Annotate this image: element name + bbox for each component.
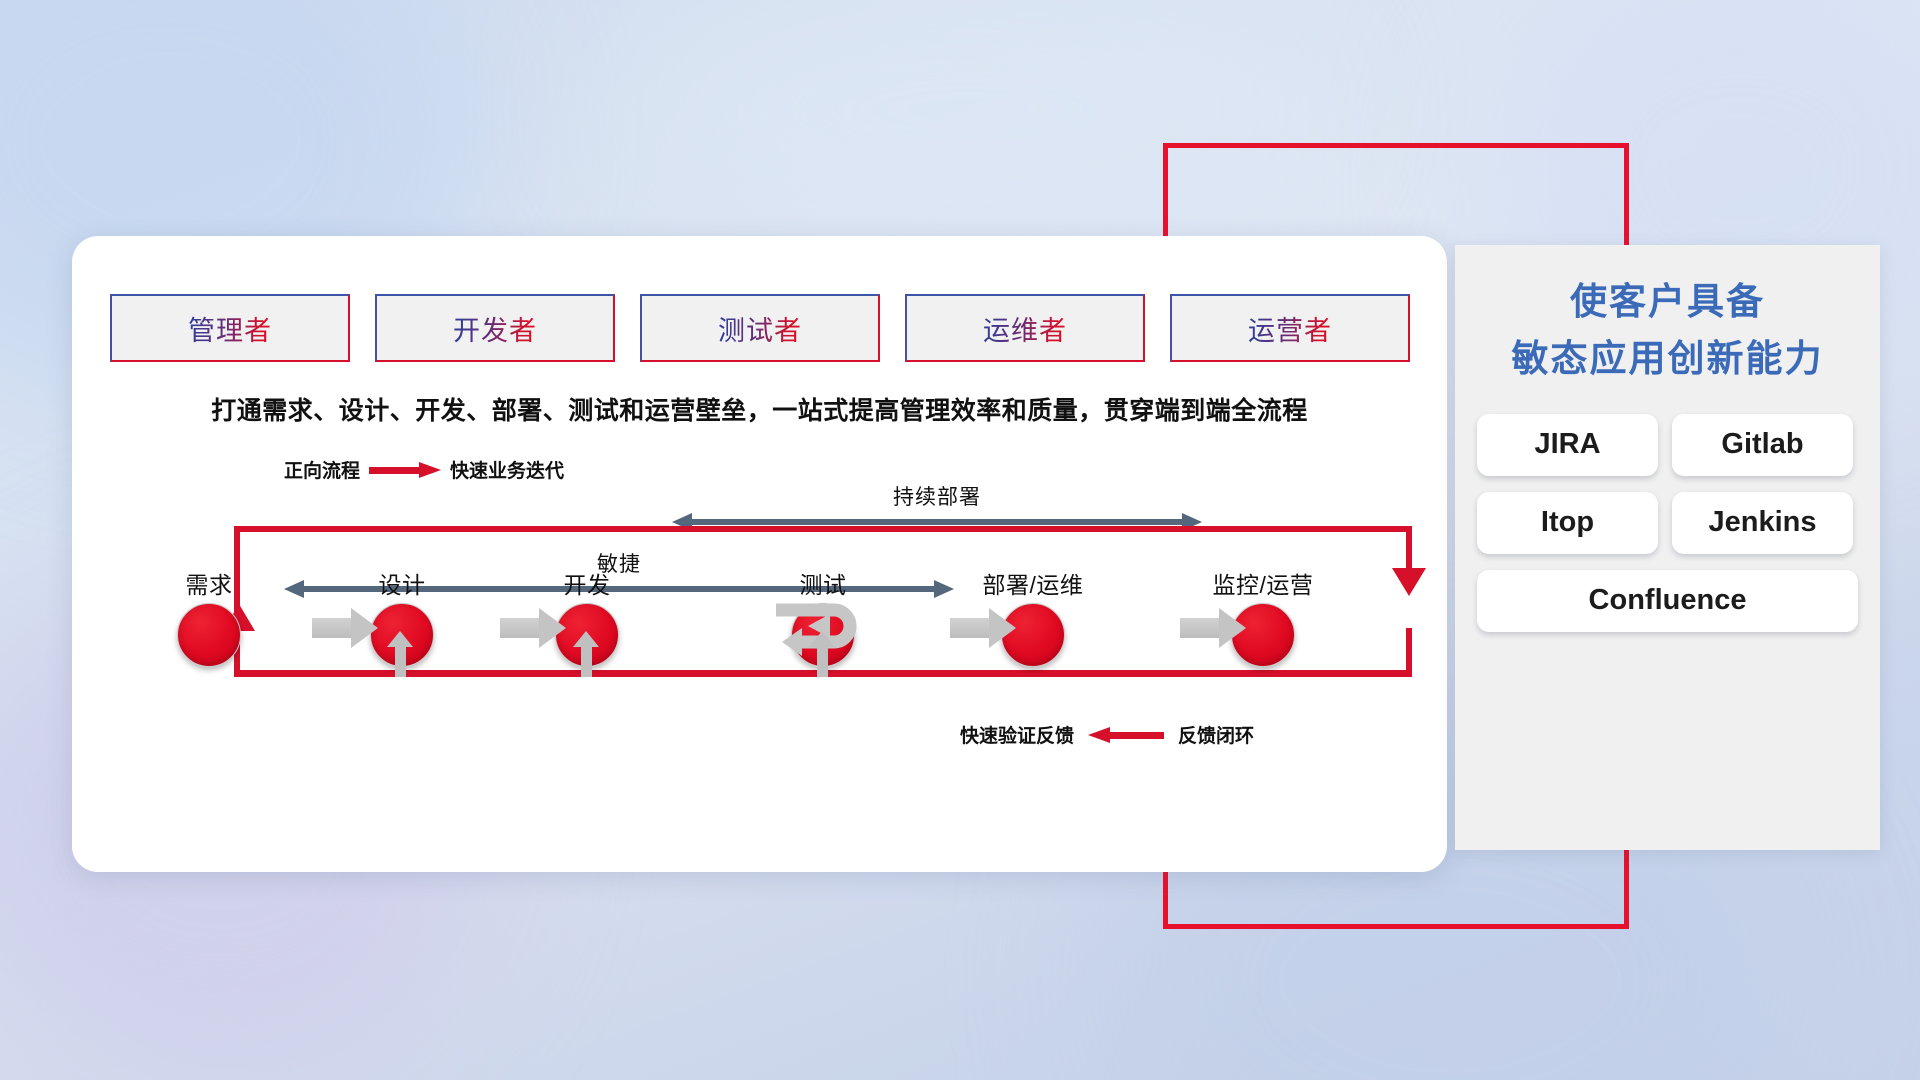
arrow-right-red-icon xyxy=(369,462,441,478)
panel-heading-line1: 使客户具备 xyxy=(1455,273,1880,330)
capability-panel: 使客户具备 敏态应用创新能力 JIRA Gitlab Itop Jenkins … xyxy=(1455,245,1880,850)
role-label: 运营者 xyxy=(1248,309,1332,348)
panel-heading-line2: 敏态应用创新能力 xyxy=(1455,330,1880,387)
feedback-right-label: 反馈闭环 xyxy=(1178,721,1254,748)
stage-label: 部署/运维 xyxy=(958,566,1108,600)
forward-flow-left-label: 正向流程 xyxy=(284,456,360,483)
arrow-shaft xyxy=(581,643,592,677)
role-label: 运维者 xyxy=(983,309,1067,348)
stage-label: 设计 xyxy=(327,566,477,600)
feedback-left-label: 快速验证反馈 xyxy=(960,721,1074,748)
arrow-shaft xyxy=(1180,618,1220,638)
arrow-right-grey-icon xyxy=(500,608,566,648)
span-continuous-deployment: 持续部署 xyxy=(672,481,1202,531)
span-label: 持续部署 xyxy=(672,481,1202,511)
feedback-loop-right-line xyxy=(1406,526,1412,572)
arrow-left-red-icon xyxy=(1088,727,1164,743)
arrow-up-grey-icon xyxy=(809,631,835,677)
role-label: 管理者 xyxy=(188,309,272,348)
role-label: 开发者 xyxy=(453,309,537,348)
role-box-manager[interactable]: 管理者 xyxy=(110,294,350,362)
tool-chip-grid: JIRA Gitlab Itop Jenkins Confluence xyxy=(1477,414,1858,632)
tool-chip-itop[interactable]: Itop xyxy=(1477,492,1658,554)
role-box-operator[interactable]: 运营者 xyxy=(1170,294,1410,362)
feedback-loop-down-arrow-icon xyxy=(1392,568,1426,596)
stage-label: 监控/运营 xyxy=(1188,566,1338,600)
role-box-tester[interactable]: 测试者 xyxy=(640,294,880,362)
arrow-right-grey-icon xyxy=(312,608,378,648)
stage-label: 需求 xyxy=(134,566,284,600)
arrow-tip xyxy=(1219,608,1246,648)
tool-chip-gitlab[interactable]: Gitlab xyxy=(1672,414,1853,476)
main-diagram-card: 管理者 开发者 测试者 运维者 运营者 打通需求、设计、开发、部署、测试和运营壁… xyxy=(72,236,1447,872)
forward-flow-caption: 正向流程 快速业务迭代 xyxy=(284,456,564,483)
arrow-bar xyxy=(690,519,1184,525)
tagline-text: 打通需求、设计、开发、部署、测试和运营壁垒，一站式提高管理效率和质量，贯穿端到端… xyxy=(72,391,1447,427)
arrow-shaft xyxy=(395,643,406,677)
slide-canvas: 管理者 开发者 测试者 运维者 运营者 打通需求、设计、开发、部署、测试和运营壁… xyxy=(0,0,1920,1080)
feedback-caption: 快速验证反馈 反馈闭环 xyxy=(960,721,1254,748)
stage-dot-icon xyxy=(177,603,241,667)
arrow-tip xyxy=(989,608,1016,648)
role-box-ops-engineer[interactable]: 运维者 xyxy=(905,294,1145,362)
arrow-tip xyxy=(351,608,378,648)
role-box-developer[interactable]: 开发者 xyxy=(375,294,615,362)
tool-chip-jira[interactable]: JIRA xyxy=(1477,414,1658,476)
tool-chip-confluence[interactable]: Confluence xyxy=(1477,570,1858,632)
arrow-tip xyxy=(539,608,566,648)
tool-chip-jenkins[interactable]: Jenkins xyxy=(1672,492,1853,554)
panel-heading: 使客户具备 敏态应用创新能力 xyxy=(1455,245,1880,388)
role-box-row: 管理者 开发者 测试者 运维者 运营者 xyxy=(110,294,1410,362)
arrow-shaft xyxy=(950,618,990,638)
arrow-right-grey-icon xyxy=(950,608,1016,648)
arrow-shaft xyxy=(817,643,828,677)
arrow-up-grey-icon xyxy=(387,631,413,677)
arrow-right-grey-icon xyxy=(1180,608,1246,648)
stage-label: 测试 xyxy=(748,566,898,600)
forward-flow-right-label: 快速业务迭代 xyxy=(450,456,564,483)
feedback-loop-top-line xyxy=(234,526,1412,532)
stage-label: 开发 xyxy=(512,566,662,600)
role-label: 测试者 xyxy=(718,309,802,348)
stage-requirement[interactable]: 需求 xyxy=(134,566,284,667)
arrow-shaft xyxy=(500,618,540,638)
arrow-up-grey-icon xyxy=(573,631,599,677)
arrow-shaft xyxy=(312,618,352,638)
